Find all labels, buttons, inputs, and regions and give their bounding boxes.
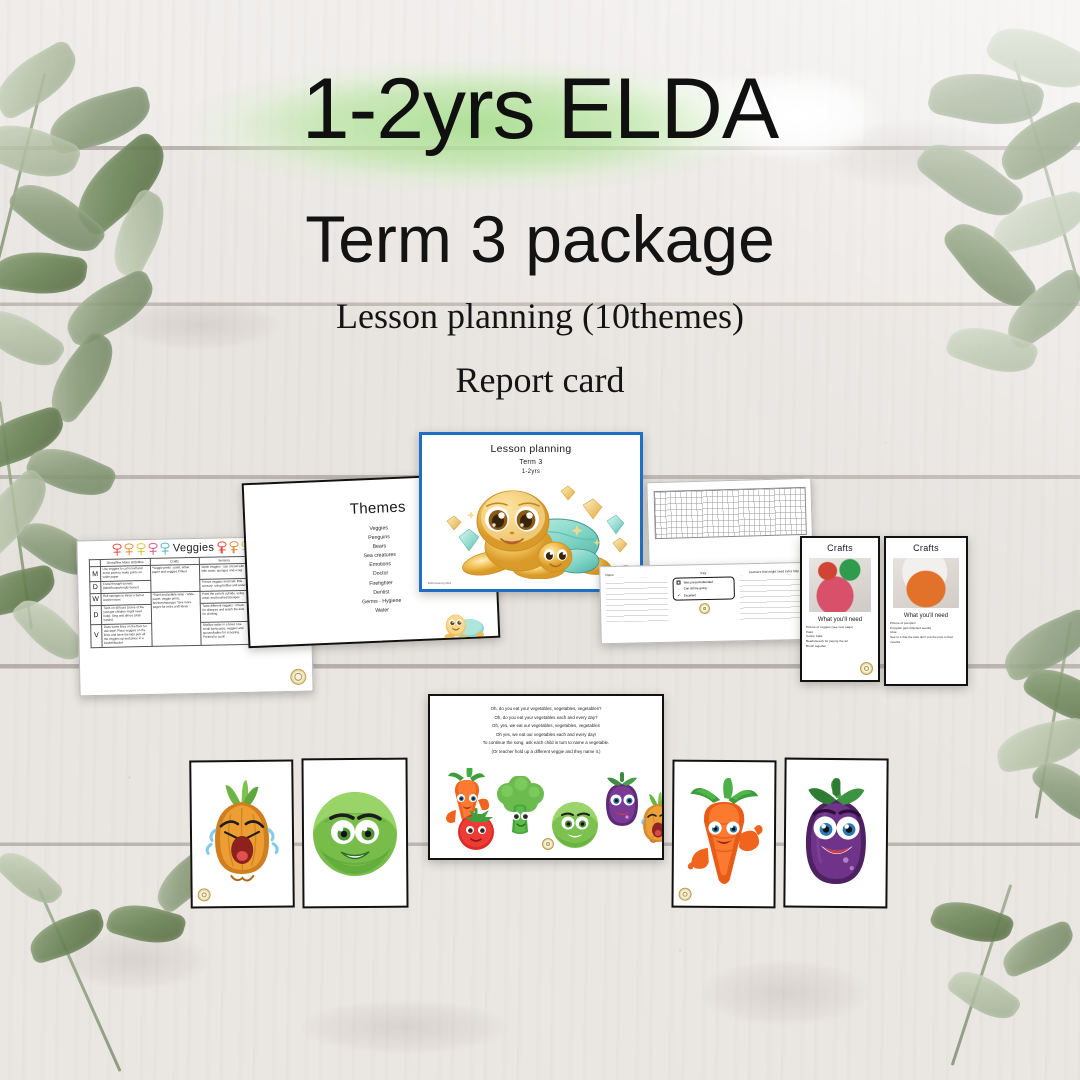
flower-icon — [149, 543, 158, 555]
cell-motor: Roll sponges to throw a ball at washer/m… — [101, 593, 151, 606]
cabbage-flashcard[interactable] — [301, 758, 408, 909]
flower-icon — [113, 544, 122, 556]
key-text: Was present/attended — [684, 580, 713, 585]
craft-card-beetroot[interactable]: Crafts What you'll need Picture of veggi… — [800, 536, 880, 682]
cell-motor: Draw some lines on the floor for use tap… — [102, 623, 152, 647]
craft-card-pumpkin[interactable]: Crafts What you'll need Picture of pumpk… — [884, 536, 968, 686]
smiling-eggplant-illustration — [796, 776, 877, 887]
veggies-card-title: Veggies — [173, 542, 214, 555]
eggplant-flashcard[interactable] — [783, 758, 888, 909]
extra-help-lines — [739, 574, 809, 621]
cell-motor: Tools on all fours (some of the younger … — [101, 605, 151, 625]
logo-stamp-icon — [542, 838, 554, 850]
cell-sensory: Freeze veggies and melt, little sensory:… — [200, 578, 250, 591]
cell-motor: Crawl through tunnels (table/hoops/empty… — [101, 580, 151, 593]
poster-canvas: 1-2yrs ELDA Term 3 package Lesson planni… — [0, 0, 1080, 1080]
cell-sensory: Shallow water in a bowl. Use small toy/s… — [201, 621, 251, 645]
lesson-planning-age: 1-2yrs — [422, 469, 640, 475]
key-label: Key — [672, 570, 734, 575]
lyric-line: Oh yes, we eat our vegetables each and e… — [430, 731, 662, 740]
wood-knot — [700, 960, 870, 1026]
golden-turtle-illustration — [431, 477, 631, 579]
key-row: ✓ Excellent — [677, 592, 731, 598]
pumpkin-craft-photo — [893, 558, 959, 608]
thumbs-up-carrot-illustration — [682, 778, 767, 887]
logo-stamp-icon — [699, 603, 710, 614]
cell-sensory: Wash veggies - use a bowl with a little … — [199, 564, 249, 580]
attendance-grid — [653, 487, 806, 539]
subtitle-package: Term 3 package — [0, 206, 1080, 272]
veggie-song-card[interactable]: Oh, do you eat your vegetables, vegetabl… — [428, 694, 664, 860]
craft-card-title: Crafts — [802, 543, 878, 553]
key-row: Was present/attended — [677, 580, 731, 585]
row-day: W — [90, 594, 101, 606]
cabbage-character-icon — [548, 798, 602, 850]
key-row: · Can still be going — [677, 585, 731, 591]
lyric-line: To continue the song, ask each child in … — [430, 739, 662, 748]
beetroot-craft-photo — [809, 558, 871, 612]
onion-character-icon — [636, 792, 664, 846]
lyric-line: Oh, do you eat your vegetables, vegetabl… — [430, 705, 662, 714]
list-item: Brush together — [806, 644, 874, 649]
lyric-line: Oh, yes, we eat our vegetables, vegetabl… — [430, 722, 662, 731]
logo-stamp-icon — [198, 888, 211, 901]
subtitle-lesson-planning: Lesson planning (10themes) — [0, 298, 1080, 334]
logo-stamp-icon — [860, 662, 873, 675]
cell-motor: Use veggies to cut in half and some pain… — [100, 566, 150, 582]
cell-sensory: Taste different veggies - Check for alle… — [200, 603, 250, 623]
craft-card-title: Crafts — [886, 543, 966, 553]
cell-sensory: Paint the carrots outside, using water a… — [200, 590, 250, 603]
turtle-icon — [441, 604, 489, 644]
logo-stamp-icon — [290, 669, 306, 685]
name-lines — [605, 577, 668, 622]
flower-icon — [125, 543, 134, 555]
key-symbol-check-icon: ✓ — [677, 593, 681, 598]
needs-list: Picture of veggies (see next page) Paint… — [802, 623, 878, 648]
lyric-line: Oh, do you eat your vegetables each and … — [430, 714, 662, 723]
flower-icon — [161, 543, 170, 555]
flower-icon — [229, 541, 238, 553]
cell-crafts: *Veggie prints - paint, either paper and… — [150, 565, 200, 593]
report-card-sheet[interactable]: Name Key Was present/attended · Can stil… — [599, 562, 816, 644]
key-legend-box: Was present/attended · Can still be goin… — [672, 576, 734, 600]
row-day: M — [89, 567, 100, 582]
wood-knot — [60, 930, 210, 990]
song-lyrics: Oh, do you eat your vegetables, vegetabl… — [430, 705, 662, 756]
smiling-cabbage-illustration — [309, 788, 402, 881]
page-title: 1-2yrs ELDA — [0, 66, 1080, 152]
lesson-planning-term: Term 3 — [422, 459, 640, 466]
cell-crafts: *Paint and bubble wrap - white paper, ve… — [150, 591, 201, 646]
craft-text: *Veggie prints - paint, either paper and… — [152, 565, 190, 574]
flower-icon — [137, 543, 146, 555]
row-day: D — [90, 606, 101, 625]
subtitle-report-card: Report card — [0, 362, 1080, 398]
row-day: D — [90, 581, 101, 593]
wood-knot — [300, 1000, 510, 1054]
key-symbol-box-icon — [677, 581, 681, 585]
flower-icon — [217, 541, 226, 553]
carrot-flashcard[interactable] — [671, 760, 776, 909]
row-day: V — [91, 624, 102, 647]
key-text: Can still be going — [684, 586, 707, 590]
lesson-card-footer: ELDA learning 2024 — [428, 582, 451, 585]
key-symbol-dot-icon: · — [677, 586, 681, 591]
crying-onion-illustration — [202, 780, 281, 885]
needs-list: Picture of pumpkin Pumpkin pips (Painted… — [886, 619, 966, 644]
broccoli-character-icon — [492, 776, 548, 838]
lyric-line: (Or teacher hold up a different veggie a… — [430, 748, 662, 757]
list-item: See to it that the kids don't put the pi… — [890, 635, 962, 644]
key-text: Excellent — [684, 593, 696, 597]
lesson-planning-title: Lesson planning — [422, 443, 640, 455]
onion-flashcard[interactable] — [189, 759, 295, 908]
logo-stamp-icon — [679, 888, 692, 901]
